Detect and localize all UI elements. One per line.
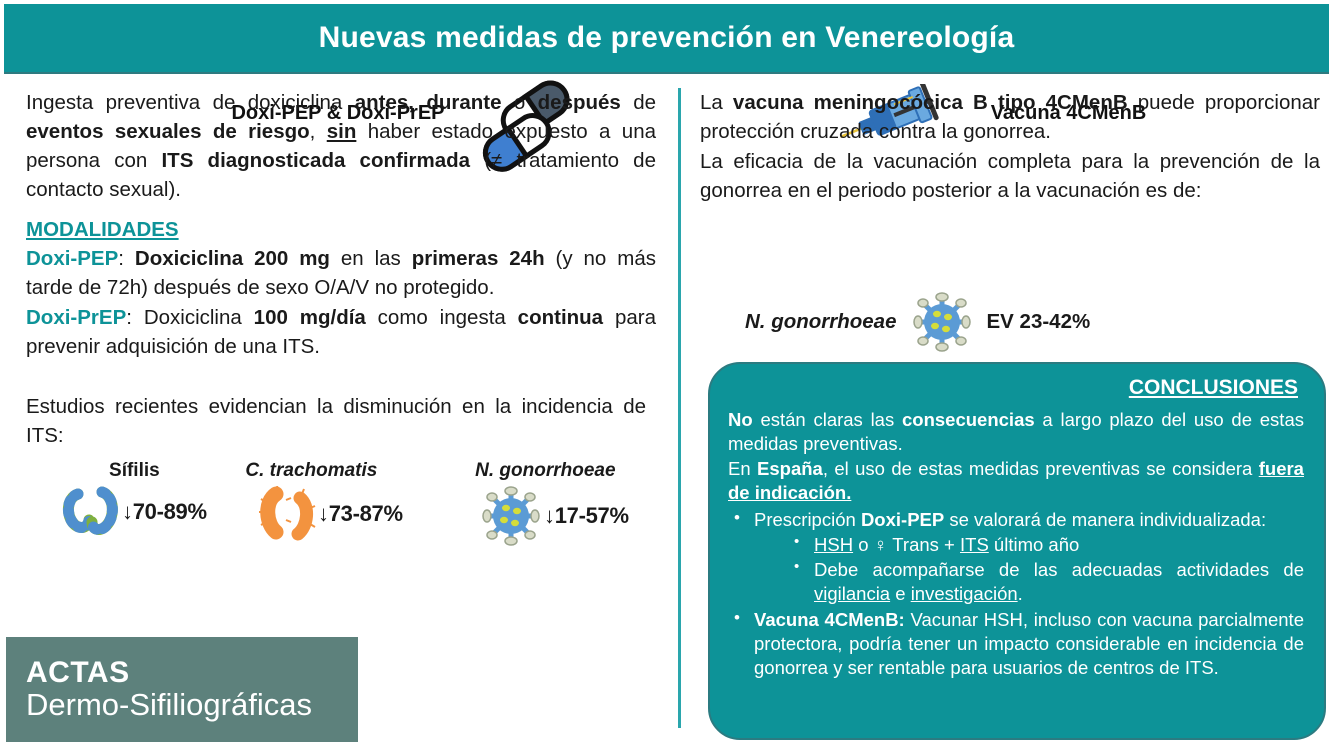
pep-text-b: en las <box>330 247 412 270</box>
conclusions-box: CONCLUSIONES No están claras las consecu… <box>708 362 1326 740</box>
pathogen-name: C. trachomatis <box>220 460 403 482</box>
pep-bold-dose: Doxiciclina 200 mg <box>135 247 330 270</box>
left-intro-paragraph: Ingesta preventiva de doxiciclina antes,… <box>26 88 656 204</box>
bullet1-text-a: Prescripción <box>754 509 861 530</box>
sub2-text-c: . <box>1018 583 1023 604</box>
intro-text-b: o <box>502 91 538 114</box>
doxi-pep-line: Doxi-PEP: Doxiciclina 200 mg en las prim… <box>26 244 656 302</box>
column-divider <box>678 88 681 728</box>
doxi-prep-line: Doxi-PrEP: Doxiciclina 100 mg/día como i… <box>26 303 656 361</box>
intro-bold-despues: después <box>538 91 621 114</box>
pathogen-change: ↓73-87% <box>318 501 403 527</box>
efficacy-organism: N. gonorrhoeae <box>745 310 897 334</box>
prep-bold-continua: continua <box>518 306 603 329</box>
conclusions-bullet-1: Prescripción Doxi-PEP se valorará de man… <box>728 508 1304 606</box>
sub1-underline-its: ITS <box>960 534 989 555</box>
sub1-underline-hsh: HSH <box>814 534 853 555</box>
gonorrhoeae-microbe-icon <box>911 292 973 352</box>
conclusions-bullet-2: Vacuna 4CMenB: Vacunar HSH, incluso con … <box>728 608 1304 680</box>
intro-text-c: de <box>621 91 656 114</box>
intro-text-d: , <box>310 120 327 143</box>
bullet1-text-b: se valorará de manera individualizada: <box>944 509 1266 530</box>
modalidades-title: MODALIDADES <box>26 218 656 242</box>
pep-bold-24h: primeras 24h <box>412 247 545 270</box>
sub1-text-a: o ♀ Trans + <box>853 534 960 555</box>
conclusions-sub-list: HSH o ♀ Trans + ITS último año Debe acom… <box>754 533 1304 606</box>
pathogen-name: N. gonorrhoeae <box>462 460 629 482</box>
syphilis-bacteria-icon <box>62 486 120 538</box>
concl-bold-espana: España <box>757 458 823 479</box>
studies-paragraph: Estudios recientes evidencian la disminu… <box>26 392 646 450</box>
conclusions-title: CONCLUSIONES <box>728 376 1298 400</box>
conclusions-subbullet-2: Debe acompañarse de las adecuadas activi… <box>788 558 1304 606</box>
pathogen-change: ↓70-89% <box>122 499 207 525</box>
sub2-text-b: e <box>890 583 911 604</box>
page-title: Nuevas medidas de prevención en Venereol… <box>319 21 1015 55</box>
pathogen-change: ↓17-57% <box>544 503 629 529</box>
vaccine-text-a: La <box>700 91 733 114</box>
concl-bold-consecuencias: consecuencias <box>902 409 1035 430</box>
prep-bold-dose: 100 mg/día <box>254 306 366 329</box>
doxi-pep-label: Doxi-PEP <box>26 247 118 270</box>
conclusions-paragraph-2: En España, el uso de estas medidas preve… <box>728 457 1304 506</box>
actas-logo-line2: Dermo-Sifiliográficas <box>26 689 358 722</box>
intro-underline-sin: sin <box>327 120 357 143</box>
sub2-underline-investigacion: investigación <box>911 583 1018 604</box>
pathogen-name: Sífilis <box>62 460 207 482</box>
concl-text-d: , el uso de estas medidas preventivas se… <box>823 458 1259 479</box>
gonorrhoeae-microbe-icon <box>480 486 542 546</box>
sub2-underline-vigilancia: vigilancia <box>814 583 890 604</box>
bullet2-bold-vacuna: Vacuna 4CMenB: <box>754 609 905 630</box>
conclusions-paragraph-1: No están claras las consecuencias a larg… <box>728 408 1304 457</box>
intro-bold-its: ITS diagnosticada confirmada <box>161 149 470 172</box>
pathogen-gonorrhoeae: N. gonorrhoeae <box>462 460 629 546</box>
prep-text-b: como ingesta <box>366 306 518 329</box>
chlamydia-bacteria-icon <box>258 486 316 542</box>
concl-text-a: están claras las <box>753 409 902 430</box>
prep-text-a: : Doxiciclina <box>126 306 253 329</box>
concl-bold-no: No <box>728 409 753 430</box>
modalidades-block: MODALIDADES Doxi-PEP: Doxiciclina 200 mg… <box>26 218 656 361</box>
vaccine-bold-name: vacuna meningocócica B tipo 4CMenB <box>733 91 1128 114</box>
conclusions-subbullet-1: HSH o ♀ Trans + ITS último año <box>788 533 1304 557</box>
efficacy-line: N. gonorrhoeae <box>745 292 1090 352</box>
infographic-page: Nuevas medidas de prevención en Venereol… <box>0 0 1333 750</box>
actas-logo: ACTAS Dermo-Sifiliográficas <box>6 637 358 742</box>
sub2-text-a: Debe acompañarse de las adecuadas activi… <box>814 559 1304 580</box>
header-banner: Nuevas medidas de prevención en Venereol… <box>4 4 1329 74</box>
actas-logo-line1: ACTAS <box>26 658 358 689</box>
concl-text-c: En <box>728 458 757 479</box>
conclusions-bullet-list: Prescripción Doxi-PEP se valorará de man… <box>728 508 1304 680</box>
pathogen-syphilis: Sífilis ↓70-89% <box>62 460 207 538</box>
doxi-prep-label: Doxi-PrEP <box>26 306 126 329</box>
efficacy-value: EV 23-42% <box>987 310 1091 334</box>
pep-text-a: : <box>118 247 135 270</box>
bullet1-bold-doxipep: Doxi-PEP <box>861 509 944 530</box>
right-intro-paragraph: La vacuna meningocócica B tipo 4CMenB pu… <box>700 88 1320 205</box>
sub1-text-b: último año <box>989 534 1080 555</box>
pathogen-chlamydia: C. trachomatis ↓73-87% <box>220 460 403 542</box>
intro-text-a: Ingesta preventiva de doxiciclina <box>26 91 355 114</box>
vaccine-efficacy-paragraph: La eficacia de la vacunación completa pa… <box>700 147 1320 205</box>
intro-bold-antes-durante: antes, durante <box>355 91 502 114</box>
pathogen-results-row: Sífilis ↓70-89% C. trachomatis <box>20 460 670 550</box>
intro-bold-eventos: eventos sexuales de riesgo <box>26 120 310 143</box>
